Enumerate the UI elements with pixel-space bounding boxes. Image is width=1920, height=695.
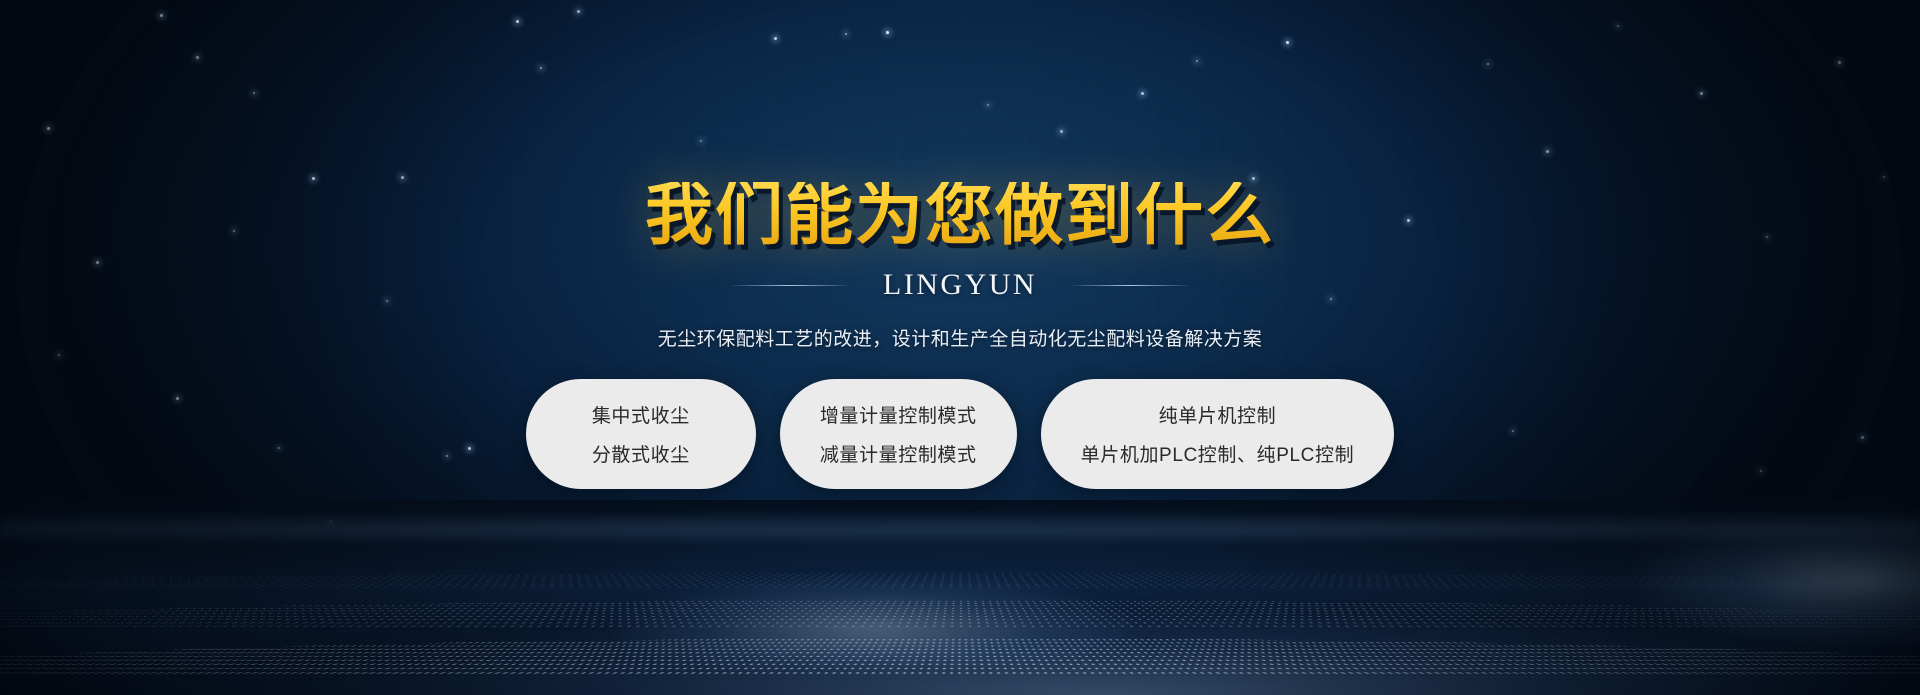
subtitle-rule-right: [1071, 285, 1189, 286]
pill-line: 纯单片机控制: [1159, 401, 1277, 428]
subtitle-row: LINGYUN: [731, 268, 1189, 302]
horizon-glow: [0, 511, 1920, 545]
page-title: 我们能为您做到什么: [645, 182, 1275, 250]
feature-pill-control-system[interactable]: 纯单片机控制 单片机加PLC控制、纯PLC控制: [1041, 379, 1395, 489]
pill-line: 减量计量控制模式: [820, 440, 977, 467]
pill-line: 集中式收尘: [592, 401, 690, 428]
hero-banner: 我们能为您做到什么 LINGYUN 无尘环保配料工艺的改进，设计和生产全自动化无…: [0, 0, 1920, 695]
banner-content: 我们能为您做到什么 LINGYUN 无尘环保配料工艺的改进，设计和生产全自动化无…: [0, 0, 1920, 489]
banner-description: 无尘环保配料工艺的改进，设计和生产全自动化无尘配料设备解决方案: [658, 324, 1263, 351]
pill-line: 增量计量控制模式: [820, 401, 977, 428]
feature-pill-dust-collection[interactable]: 集中式收尘 分散式收尘: [526, 379, 756, 489]
pill-line: 单片机加PLC控制、纯PLC控制: [1081, 440, 1355, 467]
subtitle-rule-left: [731, 285, 849, 286]
feature-pill-group: 集中式收尘 分散式收尘 增量计量控制模式 减量计量控制模式 纯单片机控制 单片机…: [526, 379, 1394, 489]
feature-pill-weighing-mode[interactable]: 增量计量控制模式 减量计量控制模式: [780, 379, 1017, 489]
pill-line: 分散式收尘: [592, 440, 690, 467]
brand-subtitle: LINGYUN: [883, 268, 1037, 302]
